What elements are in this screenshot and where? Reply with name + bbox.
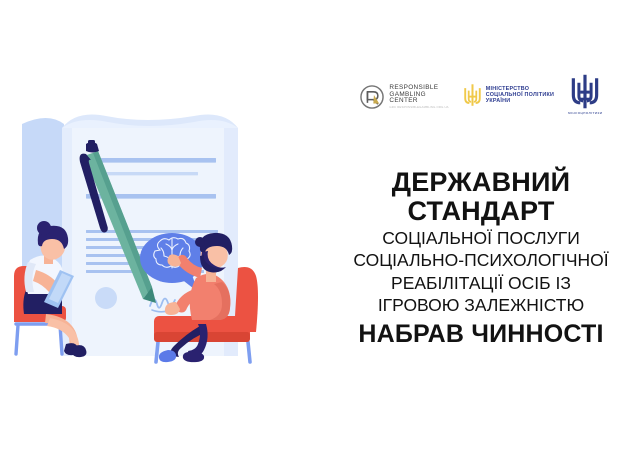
ministry-wordmark: МІНІСТЕРСТВО СОЦІАЛЬНОЇ ПОЛІТИКИ УКРАЇНИ [486, 86, 554, 105]
shoe-left-2 [72, 345, 86, 357]
chair-legs-left [16, 324, 62, 354]
logo-row: RESPONSIBLE GAMBLING CENTER GRC RESPONSI… [322, 68, 640, 132]
ukraine-trident-gold-icon [463, 83, 482, 107]
headline-minor-line-4: ІГРОВОЮ ЗАЛЕЖНІСТЮ [322, 295, 640, 316]
rgc-tagline: GRC RESPONSIBLEGAMBLING.ORG.UA [389, 106, 448, 109]
rgc-line-3: CENTER [389, 98, 448, 105]
right-content-panel: RESPONSIBLE GAMBLING CENTER GRC RESPONSI… [322, 68, 640, 348]
headline-minor-line-1: СОЦІАЛЬНОЇ ПОСЛУГИ [322, 228, 640, 249]
state-emblem-caption: МІНСОЦПОЛІТИКИ [568, 111, 602, 115]
counselling-illustration [0, 110, 320, 370]
logo-responsible-gambling-center: RESPONSIBLE GAMBLING CENTER GRC RESPONSI… [359, 68, 448, 110]
shoe-right-2 [183, 352, 204, 362]
logo-state-emblem: МІНСОЦПОЛІТИКИ [568, 68, 602, 115]
poster-canvas: RESPONSIBLE GAMBLING CENTER GRC RESPONSI… [0, 0, 640, 450]
rgc-monogram-icon [359, 84, 385, 110]
seal-stamp [95, 287, 117, 309]
headline-minor-line-3: РЕАБІЛІТАЦІЇ ОСІБ ІЗ [322, 273, 640, 294]
rgc-wordmark: RESPONSIBLE GAMBLING CENTER GRC RESPONSI… [389, 85, 448, 109]
ministry-line-3: УКРАЇНИ [486, 98, 554, 104]
headline-block: ДЕРЖАВНИЙ СТАНДАРТ СОЦІАЛЬНОЇ ПОСЛУГИ СО… [322, 168, 640, 348]
logo-ministry-of-social-policy: МІНІСТЕРСТВО СОЦІАЛЬНОЇ ПОЛІТИКИ УКРАЇНИ [463, 68, 554, 107]
headline-minor-line-2: СОЦІАЛЬНО-ПСИХОЛОГІЧНОЇ [322, 250, 640, 271]
headline-major-line-1: ДЕРЖАВНИЙ [322, 168, 640, 197]
ukraine-trident-navy-icon [570, 73, 600, 109]
headline-final-line: НАБРАВ ЧИННОСТІ [322, 320, 640, 348]
headline-major-line-2: СТАНДАРТ [322, 197, 640, 226]
hair-bun [37, 221, 51, 235]
